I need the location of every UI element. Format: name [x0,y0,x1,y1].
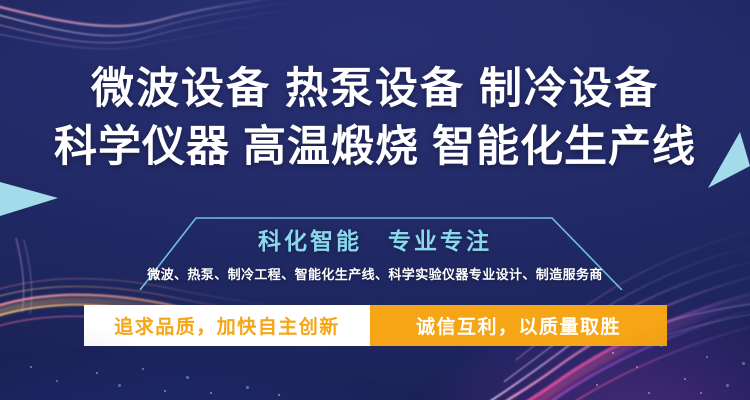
vignette-overlay [0,0,750,400]
promotional-banner: 微波设备 热泵设备 制冷设备 科学仪器 高温煅烧 智能化生产线 科化智能专业专注… [0,0,750,400]
